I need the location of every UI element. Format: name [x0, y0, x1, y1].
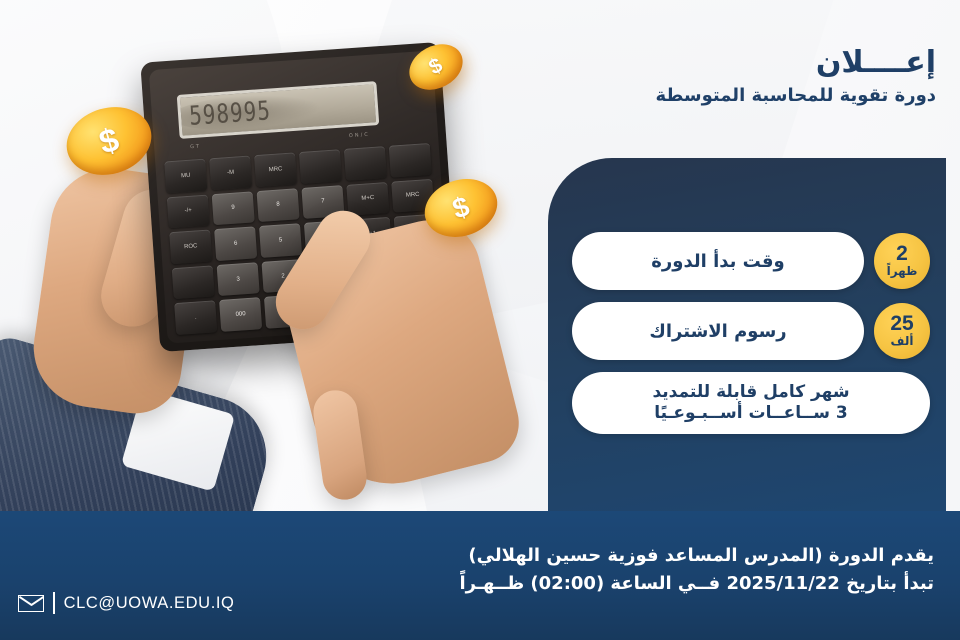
info-row-duration: شهر كامل قابلة للتمديد 3 ســاعــات أســب… — [572, 372, 930, 434]
divider — [53, 592, 55, 614]
calculator-key — [172, 265, 215, 299]
calculator-key: 5 — [259, 223, 302, 257]
badge-unit: ألف — [891, 335, 914, 348]
contact-email[interactable]: CLC@UOWA.EDU.IQ — [18, 592, 235, 614]
info-card-duration-line1: شهر كامل قابلة للتمديد — [652, 382, 849, 403]
info-row-fee: 25 ألف رسوم الاشتراك — [572, 302, 930, 360]
info-card-duration: شهر كامل قابلة للتمديد 3 ســاعــات أســب… — [572, 372, 930, 434]
badge-unit: ظهراً — [887, 265, 918, 278]
calculator-key: M- — [209, 155, 252, 189]
calculator-key: 000 — [219, 298, 262, 332]
envelope-icon — [18, 595, 44, 612]
info-card-fee: رسوم الاشتراك — [572, 302, 864, 360]
calculator-key: 3 — [217, 262, 260, 296]
badge-fee: 25 ألف — [874, 303, 930, 359]
calculator-key — [389, 143, 432, 177]
calculator-key — [344, 146, 387, 180]
calculator-key: ROC — [169, 230, 212, 264]
calculator-photo: 598995 ON/C GT MRC M- MU MRC M+C 7 8 9 +… — [0, 0, 560, 560]
calculator-key: +/- — [167, 194, 210, 228]
calculator-key: 8 — [257, 188, 300, 222]
page-title: إعــــلان — [655, 46, 936, 79]
calculator-key — [299, 149, 342, 183]
info-rows-list: 2 ظهراً وقت بدأ الدورة 25 ألف رسوم الاشت… — [572, 232, 930, 446]
header-block: إعــــلان دورة تقوية للمحاسبة المتوسطة — [655, 46, 936, 108]
calculator-key: M+C — [346, 182, 389, 216]
page-subtitle: دورة تقوية للمحاسبة المتوسطة — [655, 85, 936, 108]
info-card-start-time: وقت بدأ الدورة — [572, 232, 864, 290]
footer-date-line: تبدأ بتاريخ 2025/11/22 فــي الساعة (02:0… — [459, 570, 934, 598]
badge-number: 2 — [896, 243, 908, 264]
footer-text-block: يقدم الدورة (المدرس المساعد فوزية حسين ا… — [459, 542, 934, 598]
email-address: CLC@UOWA.EDU.IQ — [64, 594, 235, 613]
info-row-start-time: 2 ظهراً وقت بدأ الدورة — [572, 232, 930, 290]
calculator-key: . — [174, 301, 217, 335]
calculator-label-right: GT — [190, 144, 201, 151]
poster-canvas: 598995 ON/C GT MRC M- MU MRC M+C 7 8 9 +… — [0, 0, 960, 640]
badge-number: 25 — [890, 313, 913, 334]
badge-start-time: 2 ظهراً — [874, 233, 930, 289]
info-card-duration-line2: 3 ســاعــات أســبـوعـيًا — [654, 403, 847, 424]
calculator-key: 9 — [212, 191, 255, 225]
calculator-key: MRC — [254, 152, 297, 186]
calculator-key: MU — [164, 159, 207, 193]
calculator-key: 6 — [214, 227, 257, 261]
footer-instructor-line: يقدم الدورة (المدرس المساعد فوزية حسين ا… — [459, 542, 934, 570]
calculator-display-value: 598995 — [188, 96, 272, 132]
